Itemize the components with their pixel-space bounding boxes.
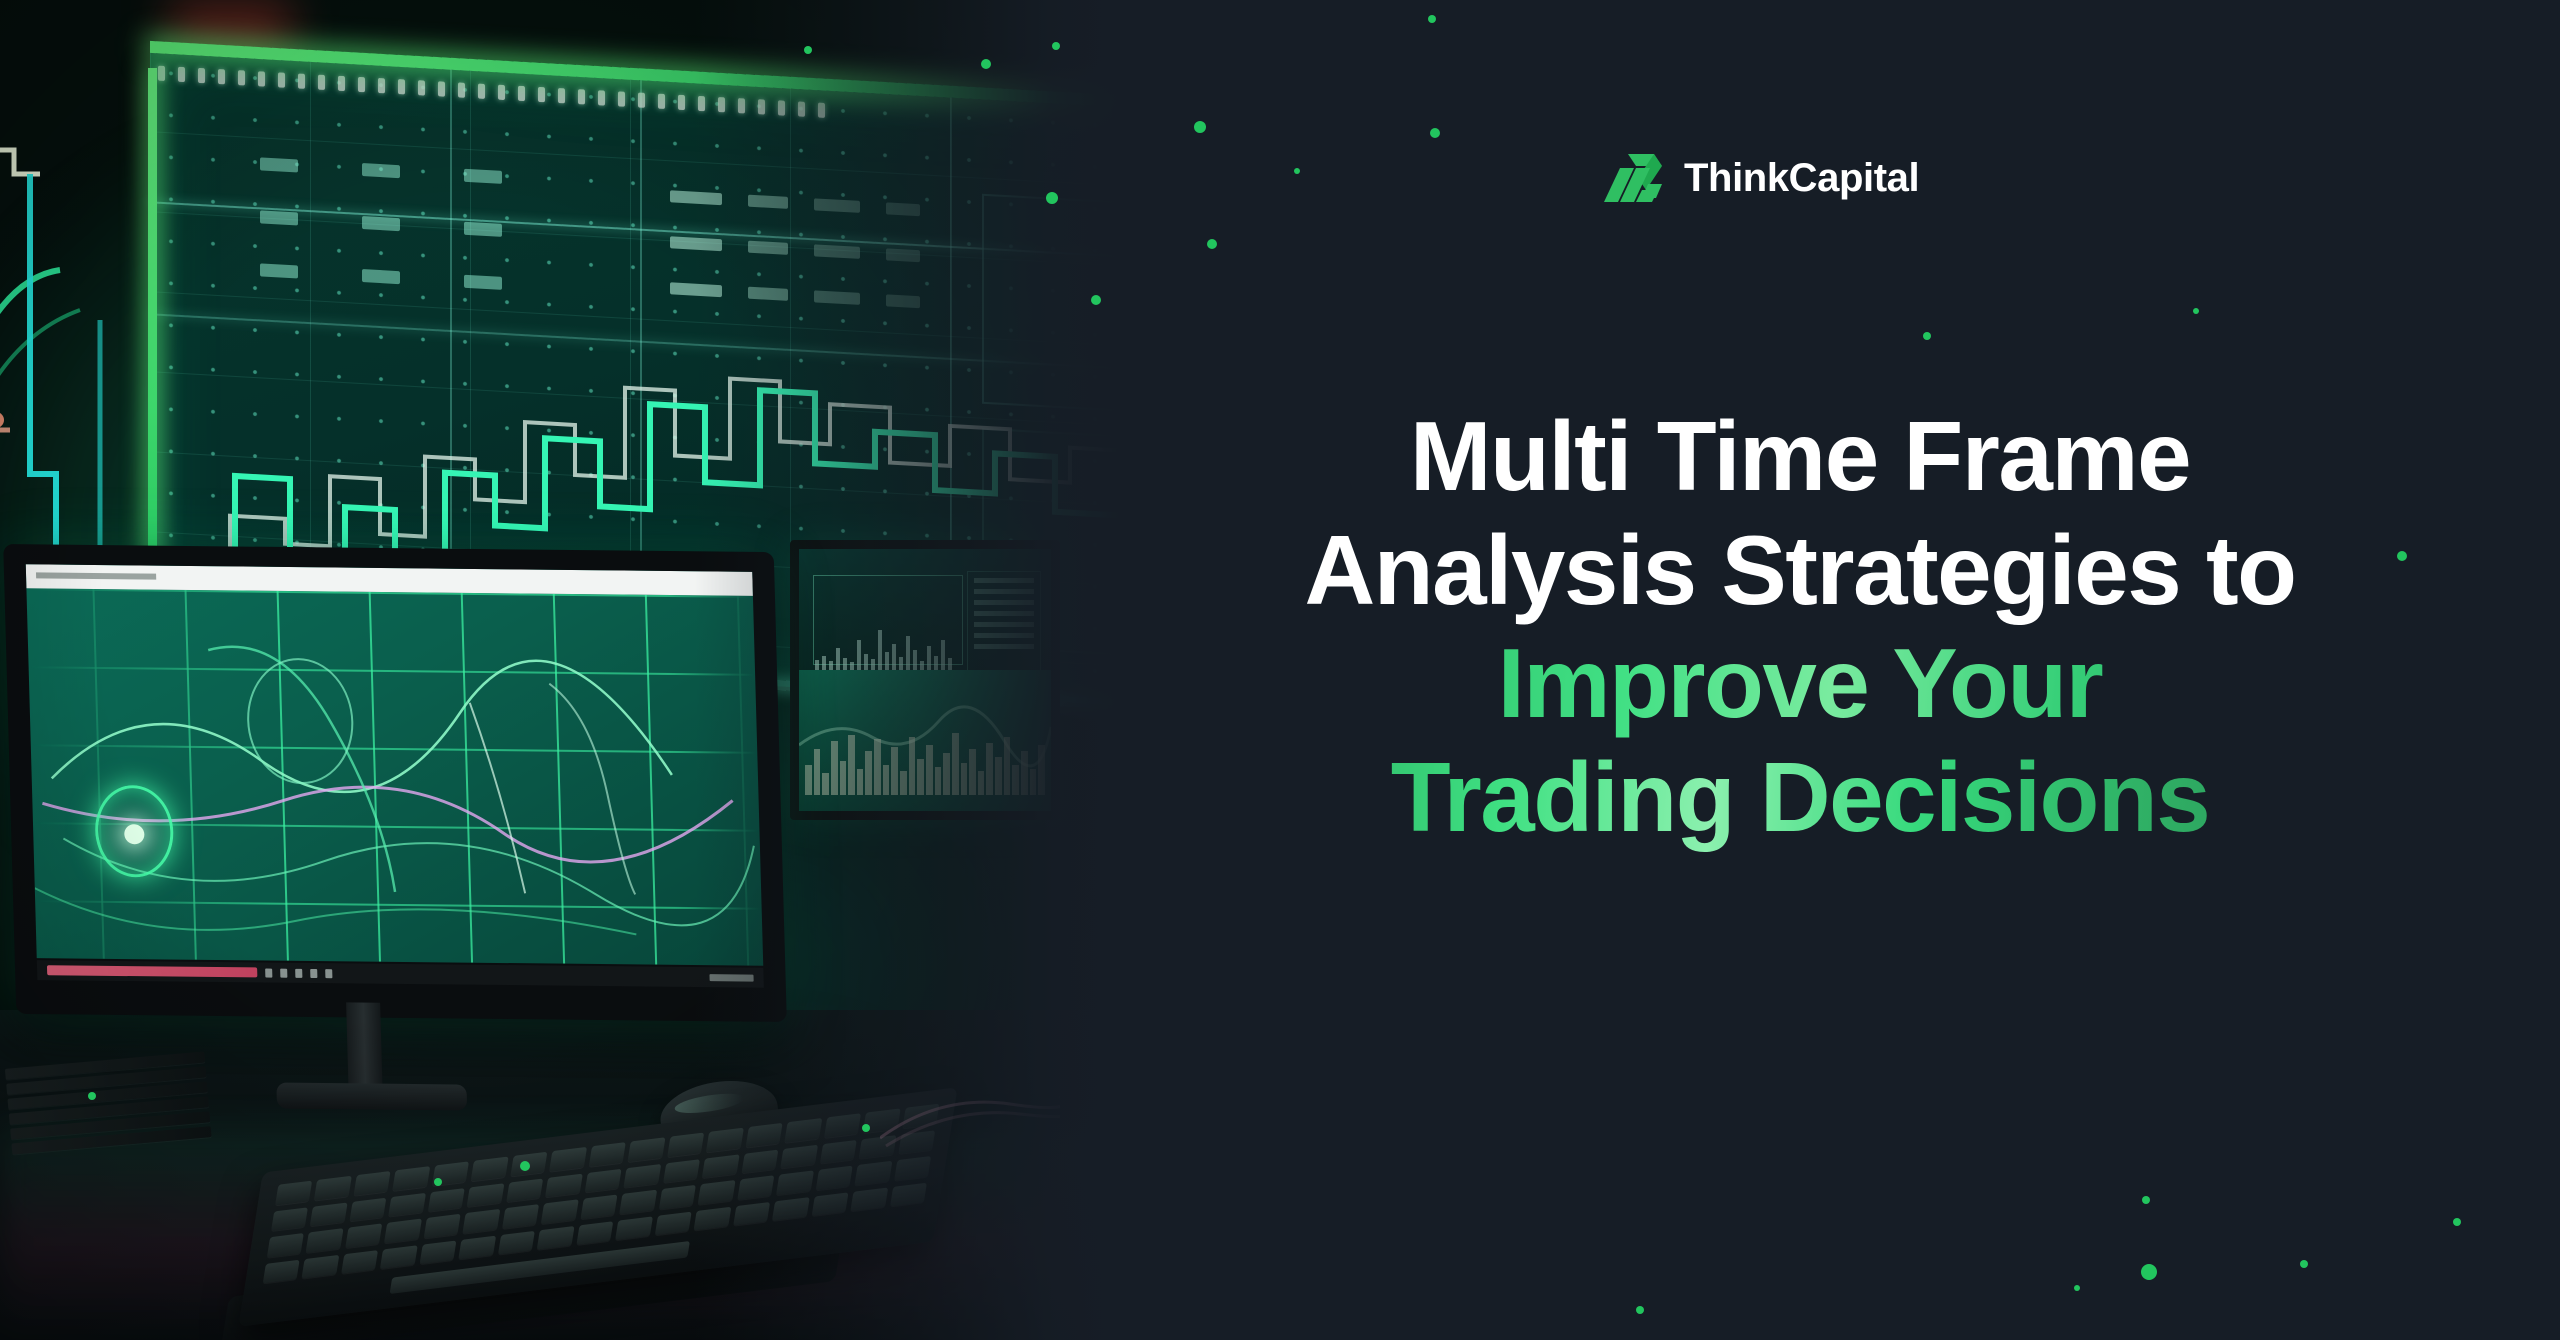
monitor-stand: [346, 1002, 382, 1088]
particle-dot: [1052, 42, 1060, 50]
particle-dot: [862, 1124, 870, 1132]
particle-dot: [1428, 15, 1436, 23]
particle-dot: [2453, 1218, 2461, 1226]
taskbar-icon[interactable]: [310, 968, 317, 977]
taskbar-icon[interactable]: [295, 968, 302, 977]
particle-dot: [981, 59, 991, 69]
taskbar-progress[interactable]: [47, 965, 257, 977]
taskbar-icon[interactable]: [280, 968, 287, 977]
thinkcapital-arrow-logo-icon: [1604, 152, 1666, 204]
monitor-screen: [26, 564, 763, 965]
particle-dot: [1923, 332, 1931, 340]
brand-name: ThinkCapital: [1684, 156, 1919, 201]
particle-dot: [1430, 128, 1440, 138]
secondary-monitor: [790, 540, 1060, 820]
headline-line-2: Analysis Strategies to: [1060, 514, 2540, 628]
monitor-foot: [276, 1083, 467, 1111]
headline-line-4: Trading Decisions: [1060, 741, 2540, 855]
particle-dot: [1207, 239, 1217, 249]
particle-dot: [2300, 1260, 2308, 1268]
wall-data-cells: [260, 157, 590, 334]
particle-dot: [434, 1178, 442, 1186]
secondary-bar-series: [815, 610, 952, 670]
particle-dot: [1046, 192, 1058, 204]
particle-dot: [2074, 1285, 2080, 1291]
screen-curve-overlay: [26, 588, 763, 965]
particle-dot: [2141, 1264, 2157, 1280]
hero-photo: [0, 0, 1120, 1340]
page-title: Multi Time Frame Analysis Strategies to …: [1060, 400, 2540, 855]
particle-dot: [520, 1161, 530, 1171]
headline-line-3: Improve Your: [1060, 627, 2540, 741]
mouse-cable: [880, 1092, 1060, 1152]
particle-dot: [804, 46, 812, 54]
taskbar-clock: [709, 974, 753, 981]
primary-monitor: [3, 544, 787, 1022]
particle-dot: [2397, 551, 2407, 561]
particle-dot: [2142, 1196, 2150, 1204]
taskbar-icon[interactable]: [325, 969, 332, 978]
promo-banner: ThinkCapital Multi Time Frame Analysis S…: [0, 0, 2560, 1340]
secondary-monitor-bottom-pane: [799, 670, 1051, 811]
particle-dot: [1636, 1306, 1644, 1314]
secondary-monitor-top-pane: [799, 549, 1051, 670]
particle-dot: [2193, 308, 2199, 314]
particle-dot: [1294, 168, 1300, 174]
book-stack: [5, 1051, 211, 1148]
particle-dot: [1194, 121, 1206, 133]
secondary-quote-list: [967, 571, 1041, 671]
brand-logo[interactable]: ThinkCapital: [1604, 152, 1919, 204]
particle-dot: [1091, 295, 1101, 305]
headline-line-1: Multi Time Frame: [1060, 400, 2540, 514]
secondary-volume-spikes: [799, 725, 1051, 795]
taskbar-icon[interactable]: [265, 968, 272, 977]
particle-dot: [88, 1092, 96, 1100]
